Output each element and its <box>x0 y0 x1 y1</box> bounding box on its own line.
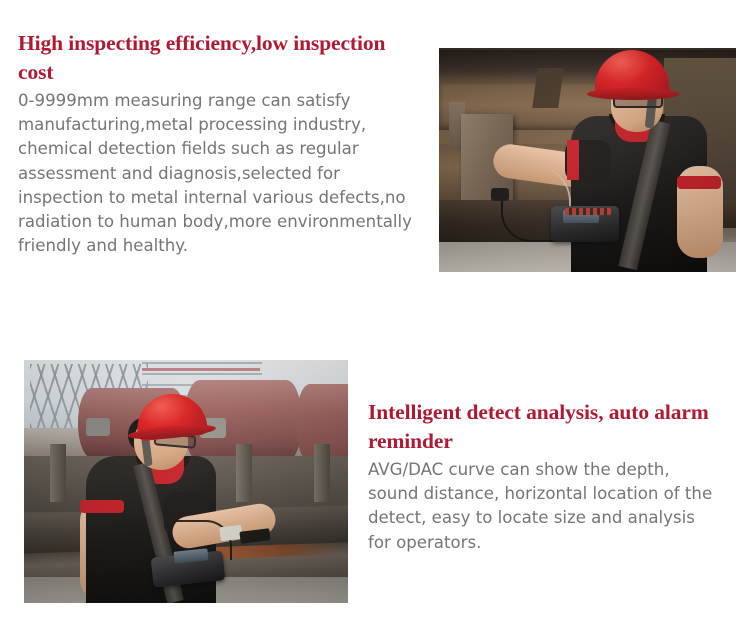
beam-support-stand <box>236 444 252 502</box>
beam-inspection-photo <box>439 48 736 272</box>
vessel-inspection-photo <box>24 360 348 603</box>
beam-support-stand <box>50 444 66 502</box>
beam-support-stand <box>314 444 330 502</box>
feature-analysis-text-block: Intelligent detect analysis, auto alarm … <box>368 398 716 555</box>
worker-left-cuff <box>80 500 124 513</box>
worker-left-cuff <box>567 140 579 180</box>
product-feature-page: High inspecting efficiency,low inspectio… <box>0 0 750 641</box>
feature-analysis-heading: Intelligent detect analysis, auto alarm … <box>368 398 716 456</box>
feature-efficiency-heading: High inspecting efficiency,low inspectio… <box>18 29 420 87</box>
vessel-nozzle <box>86 418 110 436</box>
hard-hat-brim <box>587 88 679 100</box>
worker-right-cuff <box>677 176 721 189</box>
ultrasonic-probe <box>491 188 509 201</box>
red-pipe <box>142 368 260 371</box>
feature-efficiency-body: 0-9999mm measuring range can satisfy man… <box>18 89 420 258</box>
feature-efficiency-text-block: High inspecting efficiency,low inspectio… <box>18 29 420 258</box>
feature-analysis-body: AVG/DAC curve can show the depth, sound … <box>368 458 716 555</box>
flaw-detector-keypad <box>565 208 611 215</box>
